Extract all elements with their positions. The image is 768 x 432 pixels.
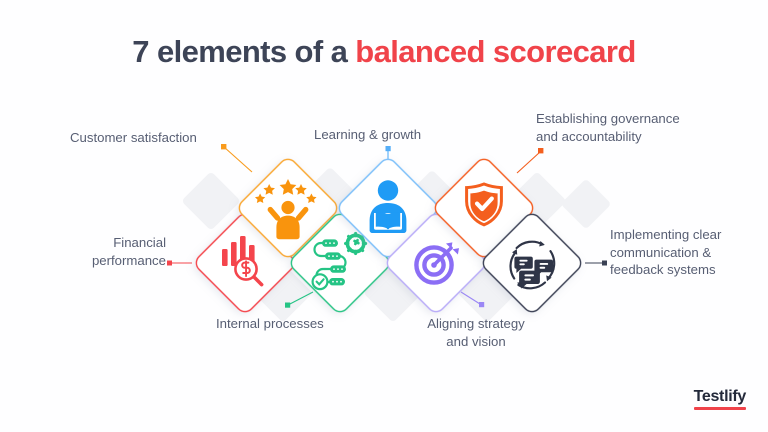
label-implementing-communication: Implementing clear communication & feedb… [610,226,760,279]
label-financial-performance: Financial performance [62,234,166,269]
label-internal-processes: Internal processes [216,315,376,333]
logo-wordmark: Testlify [694,389,746,405]
infographic-canvas: 7 elements of a balanced scorecard [0,0,768,432]
testlify-logo: Testlify [694,389,746,410]
label-aligning-strategy: Aligning strategy and vision [405,315,547,350]
label-customer-satisfaction: Customer satisfaction [70,129,250,147]
label-establishing-governance: Establishing governance and accountabili… [536,110,736,145]
diamond-chain-diagram [0,0,768,432]
label-learning-growth: Learning & growth [314,126,464,144]
gear-icon [346,233,366,253]
logo-underline [694,407,746,410]
